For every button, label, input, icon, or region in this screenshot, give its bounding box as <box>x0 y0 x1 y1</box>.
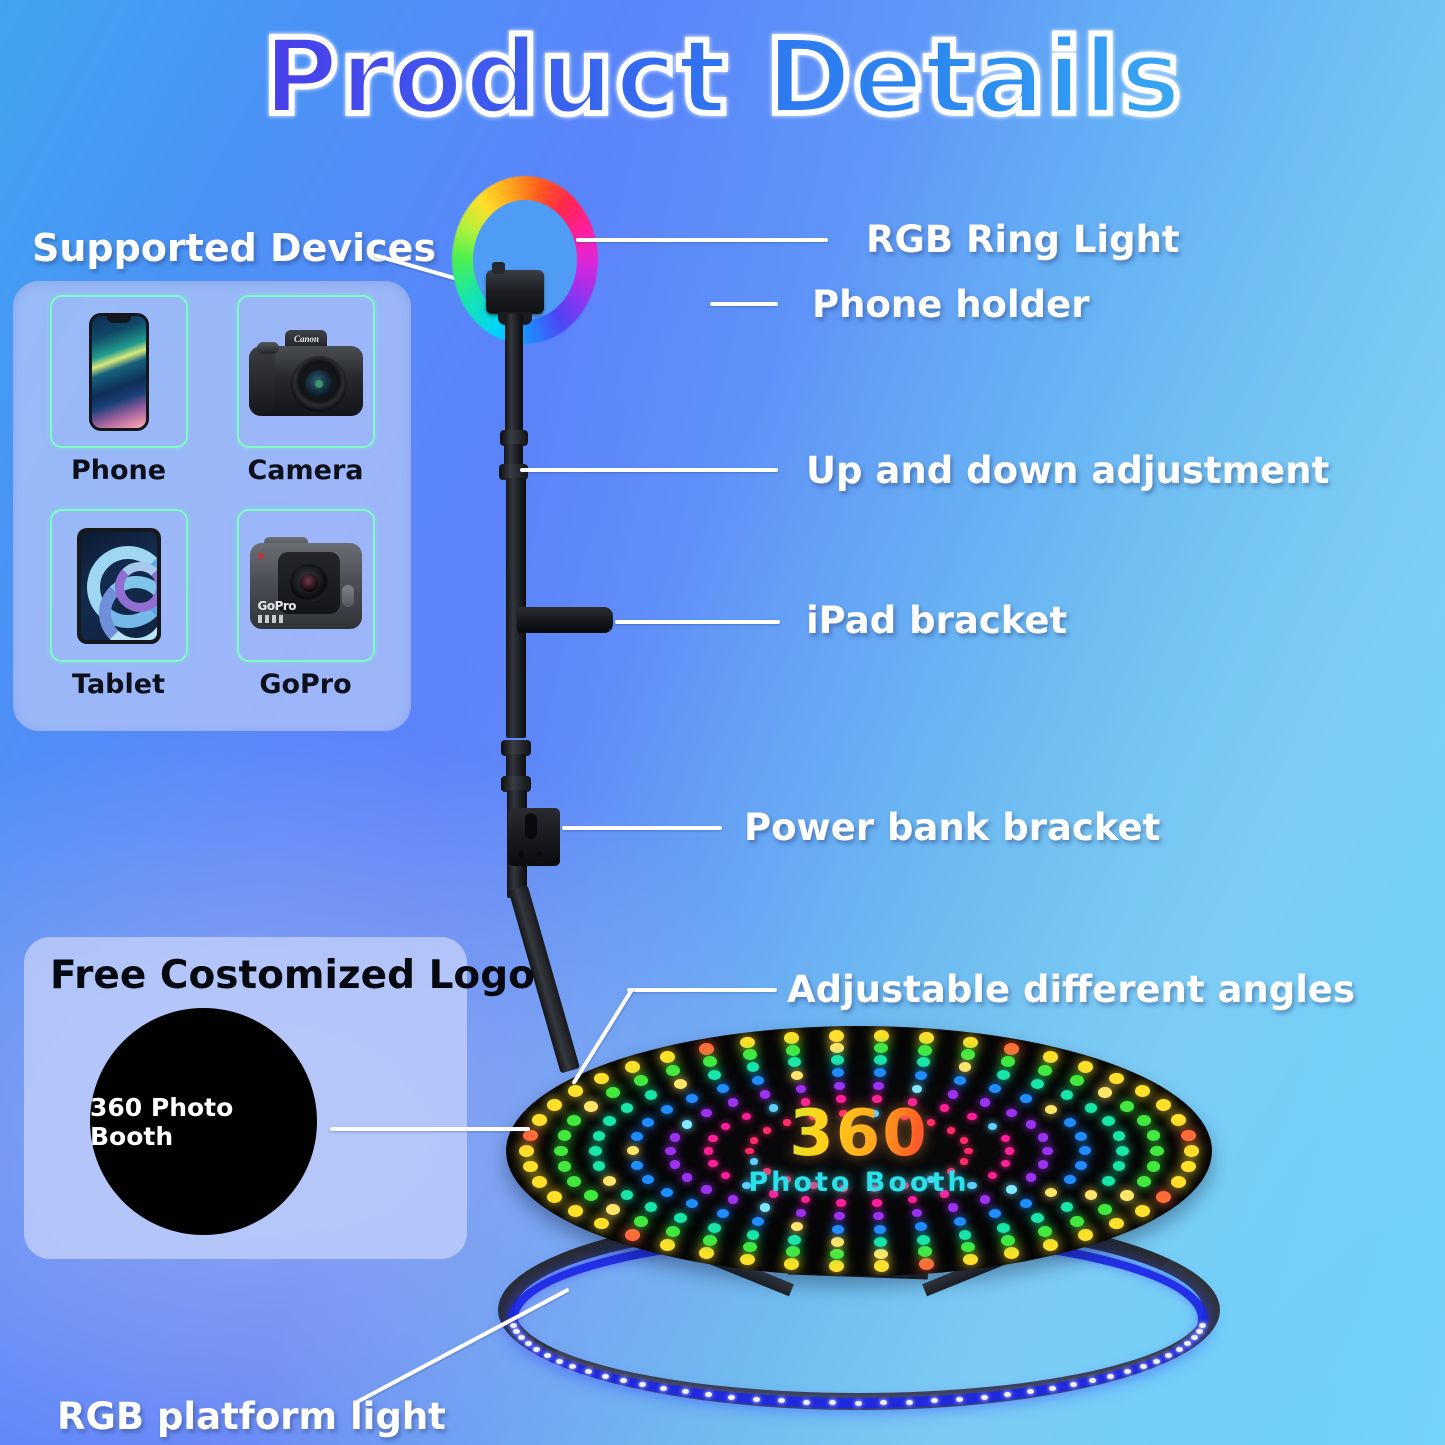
supported-devices-heading: Supported Devices <box>32 226 436 270</box>
pole-upper <box>505 314 523 444</box>
tablet-icon <box>77 528 161 644</box>
callout-rgb-platform-light: RGB platform light <box>57 1395 446 1438</box>
device-card-camera[interactable]: Canon Camera <box>212 295 399 509</box>
action-camera-icon: GoPro <box>250 543 362 629</box>
callout-up-down-adjustment: Up and down adjustment <box>806 449 1329 492</box>
device-label-gopro: GoPro <box>259 669 351 700</box>
phone-holder-graphic <box>486 270 544 314</box>
leader-ipad-bracket <box>615 620 780 624</box>
leader-rgb-ring-light <box>576 238 828 242</box>
custom-logo-preview: 360 Photo Booth <box>90 1008 317 1235</box>
platform-photo-booth-text: Photo Booth <box>748 1167 969 1198</box>
power-bank-bracket-graphic <box>508 808 560 866</box>
callout-power-bank-bracket: Power bank bracket <box>744 806 1160 849</box>
leader-up-down-adjustment <box>520 468 778 472</box>
custom-logo-text: 360 Photo Booth <box>90 1093 317 1151</box>
page-title: Product Details <box>0 16 1445 138</box>
leader-phone-holder <box>710 302 778 306</box>
tablet-thumb <box>50 509 188 662</box>
supported-devices-panel: Phone Canon Camera Tabl <box>13 281 411 731</box>
device-label-camera: Camera <box>247 455 363 486</box>
callout-phone-holder: Phone holder <box>812 283 1089 326</box>
product-infographic: Product Details Supported Devices Phone … <box>0 0 1445 1445</box>
free-logo-heading: Free Costomized Logo <box>50 953 535 998</box>
callout-rgb-ring-light: RGB Ring Light <box>866 218 1180 261</box>
platform-360-text: 360 <box>748 1104 969 1165</box>
turntable-platform: 360 Photo Booth <box>498 1014 1220 1414</box>
device-label-tablet: Tablet <box>72 669 165 700</box>
phone-thumb <box>50 295 188 448</box>
leader-logo-circle <box>330 1127 530 1131</box>
platform-center-logo: 360 Photo Booth <box>748 1104 969 1198</box>
leader-power-bank-bracket <box>562 826 722 830</box>
device-card-gopro[interactable]: GoPro GoPro <box>212 509 399 723</box>
callout-ipad-bracket: iPad bracket <box>806 599 1067 642</box>
leader-adjustable-angles <box>627 988 777 992</box>
callout-adjustable-angles: Adjustable different angles <box>787 968 1355 1011</box>
gopro-thumb: GoPro <box>237 509 375 662</box>
device-card-tablet[interactable]: Tablet <box>25 509 212 723</box>
platform-surface: 360 Photo Booth <box>506 1026 1212 1276</box>
device-label-phone: Phone <box>71 455 166 486</box>
smartphone-icon <box>89 313 149 431</box>
device-card-phone[interactable]: Phone <box>25 295 212 509</box>
camera-thumb: Canon <box>237 295 375 448</box>
ipad-bracket-graphic <box>517 607 613 633</box>
dslr-camera-icon: Canon <box>247 326 365 418</box>
